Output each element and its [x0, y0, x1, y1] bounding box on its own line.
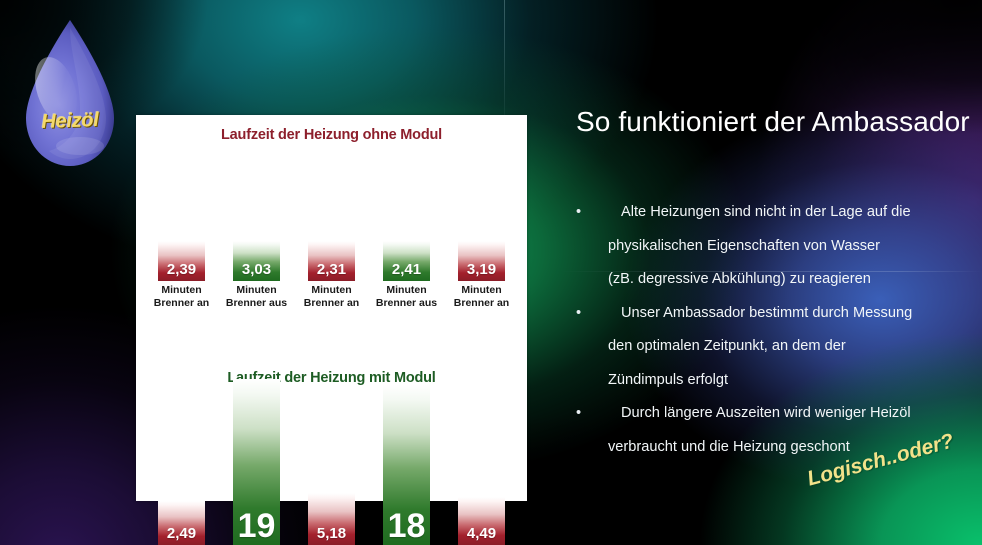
caption-line-1: Minuten — [236, 284, 276, 296]
bar-with-5: 4,49 — [458, 497, 505, 545]
bar-value: 19 — [238, 509, 276, 545]
bar-value: 2,49 — [167, 526, 196, 545]
bullet-1-line-1: Alte Heizungen sind nicht in der Lage au… — [608, 196, 974, 230]
bar-with-1: 2,49 — [158, 501, 205, 545]
bar-without-4: 2,41 — [383, 241, 430, 281]
bar-value: 2,41 — [392, 262, 421, 281]
bullet-2-line-2: den optimalen Zeitpunkt, an dem der — [608, 330, 974, 364]
bar-value: 2,39 — [167, 262, 196, 281]
chart-bars-with-module: 2,49 Minuten Brenner an 19 Minuten Brenn… — [136, 405, 527, 545]
caption-line-1: Minuten — [461, 284, 501, 296]
bar-value: 3,19 — [467, 262, 496, 281]
bar-with-4: 18 — [383, 385, 430, 545]
bullet-3-line-1: Durch längere Auszeiten wird weniger Hei… — [608, 397, 974, 431]
caption-line-2: Brenner an — [304, 297, 359, 309]
bullet-marker-icon: • — [576, 397, 581, 431]
background-vertical-hairline — [504, 0, 505, 118]
bullet-marker-icon: • — [576, 196, 581, 230]
slide-canvas: Heizöl Laufzeit der Heizung ohne Modul 2… — [0, 0, 982, 545]
bar-column: 2,41 Minuten Brenner aus — [375, 241, 438, 309]
bar-caption: Minuten Brenner aus — [226, 284, 287, 309]
bar-column: 2,31 Minuten Brenner an — [300, 241, 363, 309]
bar-caption: Minuten Brenner an — [154, 284, 209, 309]
caption-line-1: Minuten — [161, 284, 201, 296]
bar-value: 3,03 — [242, 262, 271, 281]
bar-column: 3,19 Minuten Brenner an — [450, 241, 513, 309]
caption-line-2: Brenner aus — [226, 297, 287, 309]
bar-with-3: 5,18 — [308, 493, 355, 545]
bullet-list: • Alte Heizungen sind nicht in der Lage … — [572, 196, 974, 464]
bar-value: 18 — [388, 509, 426, 545]
caption-line-2: Brenner aus — [376, 297, 437, 309]
bar-column: 5,18 Minuten Brenner an — [300, 493, 363, 545]
bullet-marker-icon: • — [576, 297, 581, 331]
bar-without-3: 2,31 — [308, 241, 355, 281]
bar-column: 19 Minuten Brenner aus — [225, 379, 288, 545]
bar-column: 18 Minuten Brenner aus — [375, 385, 438, 545]
bar-caption: Minuten Brenner an — [304, 284, 359, 309]
caption-line-1: Minuten — [386, 284, 426, 296]
bullet-item-2: • Unser Ambassador bestimmt durch Messun… — [572, 297, 974, 398]
bullet-item-1: • Alte Heizungen sind nicht in der Lage … — [572, 196, 974, 297]
bullet-2-line-3: Zündimpuls erfolgt — [608, 364, 974, 398]
caption-line-1: Minuten — [311, 284, 351, 296]
oil-drop-label: Heizöl — [18, 108, 123, 135]
bar-caption: Minuten Brenner aus — [376, 284, 437, 309]
chart-card: Laufzeit der Heizung ohne Modul 2,39 Min… — [136, 115, 527, 501]
bar-value: 4,49 — [467, 526, 496, 545]
bullet-1-line-2: physikalischen Eigenschaften von Wasser — [608, 230, 974, 264]
bar-without-1: 2,39 — [158, 241, 205, 281]
bar-caption: Minuten Brenner an — [454, 284, 509, 309]
bar-column: 3,03 Minuten Brenner aus — [225, 241, 288, 309]
bar-column: 2,39 Minuten Brenner an — [150, 241, 213, 309]
oil-drop-logo: Heizöl — [18, 18, 122, 176]
chart-title-without-module: Laufzeit der Heizung ohne Modul — [136, 127, 527, 143]
slide-headline: So funktioniert der Ambassador — [576, 104, 976, 140]
water-drop-icon — [18, 18, 122, 170]
bar-column: 2,49 Minuten Brenner an — [150, 501, 213, 545]
caption-line-2: Brenner an — [454, 297, 509, 309]
bar-without-5: 3,19 — [458, 241, 505, 281]
caption-line-2: Brenner an — [154, 297, 209, 309]
bar-without-2: 3,03 — [233, 241, 280, 281]
bar-with-2: 19 — [233, 379, 280, 545]
chart-bars-without-module: 2,39 Minuten Brenner an 3,03 Minuten Bre… — [136, 263, 527, 309]
bar-value: 5,18 — [317, 526, 346, 545]
chart-title-with-module: Laufzeit der Heizung mit Modul — [136, 370, 527, 386]
bullet-2-line-1: Unser Ambassador bestimmt durch Messung — [608, 297, 974, 331]
bar-value: 2,31 — [317, 262, 346, 281]
bullet-1-line-3: (zB. degressive Abkühlung) zu reagieren — [608, 263, 974, 297]
bar-column: 4,49 Minuten Brenner an — [450, 497, 513, 545]
